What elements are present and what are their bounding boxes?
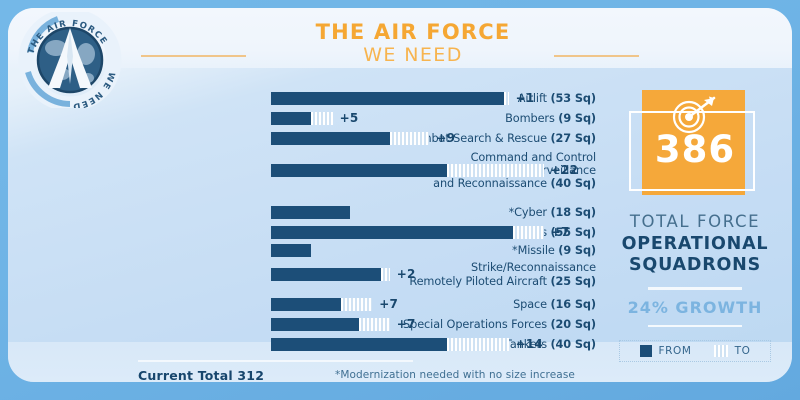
modernization-note: *Modernization needed with no size incre…: [335, 369, 575, 381]
bar-segment-to: [447, 164, 544, 177]
total-force-panel: 386 TOTAL FORCE OPERATIONAL SQUADRONS 24…: [600, 82, 790, 382]
bar-segment-to: [341, 298, 372, 311]
legend-swatch-to: [714, 345, 728, 357]
operational-label: OPERATIONAL: [600, 234, 790, 255]
bar-segment-from: [271, 112, 311, 125]
main-card: THE AIR FORCE WE NEED THE AIR FORCE WE N…: [8, 8, 792, 382]
title-line-1: THE AIR FORCE: [233, 20, 593, 44]
title-line-2: WE NEED: [233, 44, 593, 66]
bar-row: +9: [271, 132, 429, 145]
total-force-badge: 386: [600, 82, 790, 210]
bar-segment-from: [271, 298, 341, 311]
total-force-number: 386: [600, 130, 790, 170]
bar-segment-to: [447, 338, 509, 351]
legend-swatch-from: [640, 345, 652, 357]
squadrons-label: SQUADRONS: [600, 255, 790, 276]
bar-value: +9: [436, 131, 455, 145]
bar-row: +2: [271, 268, 390, 281]
bar-segment-from: [271, 92, 504, 105]
footer-divider: [138, 360, 413, 362]
title-rule-left: [141, 55, 246, 57]
bar-row: +7: [271, 226, 544, 239]
squadron-bar-chart: Airlift (53 Sq)+1Bombers (9 Sq)+5Combat …: [26, 82, 596, 354]
bar-label: Strike/ReconnaissanceRemotely Piloted Ai…: [358, 261, 596, 288]
bar-row: [271, 206, 350, 219]
bar-value: +5: [340, 111, 359, 125]
legend-label-to: TO: [735, 345, 751, 357]
bar-segment-to: [359, 318, 390, 331]
growth-rule-top: [648, 287, 742, 290]
bar-label: *Missile (9 Sq): [358, 244, 596, 257]
bar-segment-from: [271, 164, 447, 177]
bar-row: +14: [271, 338, 509, 351]
growth-rule-bottom: [648, 325, 742, 328]
operational-squadrons-label: OPERATIONAL SQUADRONS: [600, 234, 790, 276]
bar-segment-to: [381, 268, 390, 281]
bar-row: +5: [271, 112, 333, 125]
bar-row: +22: [271, 164, 544, 177]
bar-value: +7: [397, 317, 416, 331]
bar-segment-from: [271, 132, 390, 145]
bar-row: +1: [271, 92, 509, 105]
legend-label-from: FROM: [659, 345, 692, 357]
total-force-label: TOTAL FORCE: [600, 212, 790, 231]
bar-label: Bombers (9 Sq): [358, 112, 596, 125]
bar-segment-to: [513, 226, 544, 239]
bar-value: +14: [516, 337, 543, 351]
bar-row: +7: [271, 318, 390, 331]
bar-value: +2: [397, 267, 416, 281]
bar-value: +7: [551, 225, 570, 239]
bar-segment-to: [390, 132, 430, 145]
bar-label: Special Operations Forces (20 Sq): [358, 318, 596, 331]
bar-segment-from: [271, 318, 359, 331]
bar-segment-from: [271, 338, 447, 351]
bar-segment-from: [271, 226, 513, 239]
bar-segment-to: [504, 92, 508, 105]
bar-segment-from: [271, 268, 381, 281]
page-title: THE AIR FORCE WE NEED: [233, 20, 593, 66]
bar-segment-from: [271, 206, 350, 219]
current-total-label: Current Total 312: [138, 368, 264, 382]
bar-value: +1: [516, 91, 535, 105]
bar-label: *Cyber (18 Sq): [358, 206, 596, 219]
bar-segment-from: [271, 244, 311, 257]
infographic-root: THE AIR FORCE WE NEED THE AIR FORCE WE N…: [0, 0, 800, 400]
bar-value: +22: [551, 163, 578, 177]
bar-row: [271, 244, 311, 257]
growth-label: 24% GROWTH: [600, 298, 790, 317]
bar-segment-to: [311, 112, 333, 125]
bar-row: +7: [271, 298, 372, 311]
bar-value: +7: [379, 297, 398, 311]
chart-legend: FROM TO: [619, 340, 771, 362]
